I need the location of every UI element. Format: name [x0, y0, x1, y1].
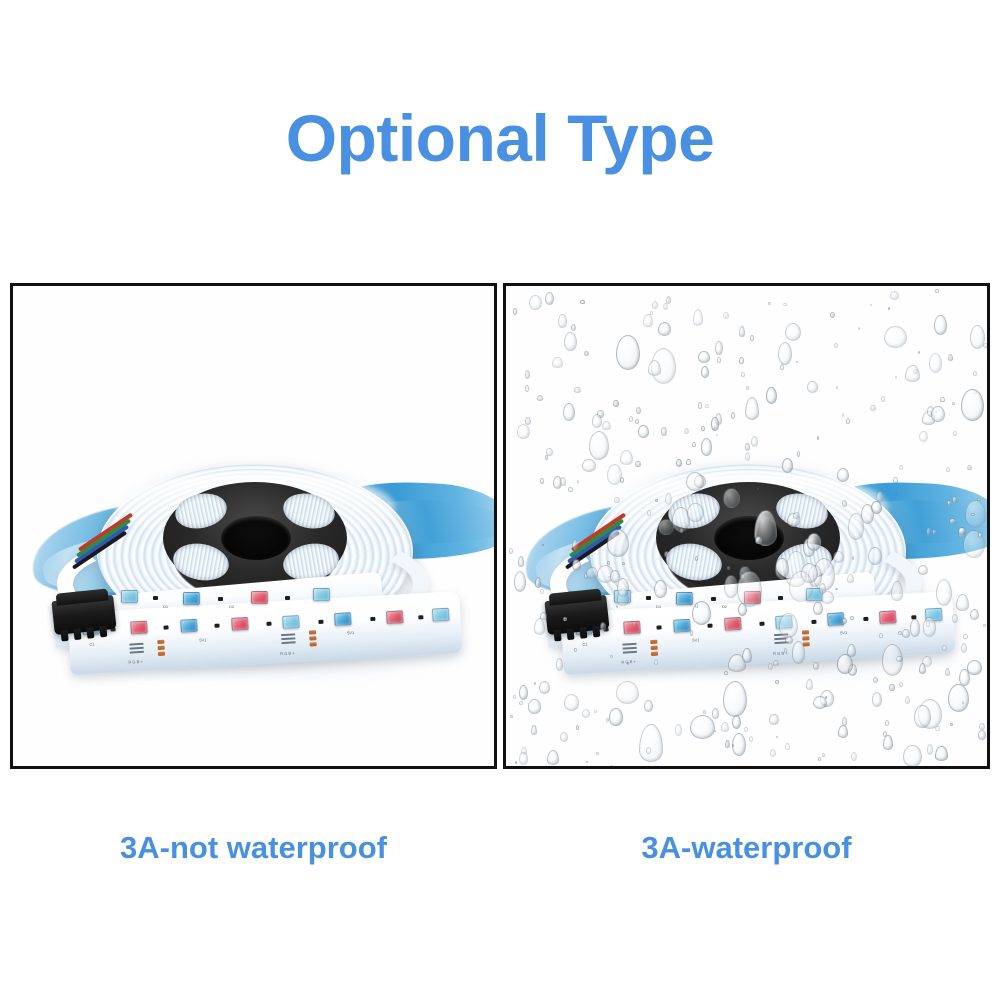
- caption-not-waterproof: 3A-not waterproof: [10, 830, 497, 866]
- four-pin-connector: [51, 595, 116, 635]
- caption-waterproof: 3A-waterproof: [503, 830, 990, 866]
- page-title: Optional Type: [0, 104, 1000, 173]
- led-strip-reel-photo: C1 5V1 5V1 R G B + R G B + D1 D2: [13, 286, 494, 766]
- four-pin-connector: [544, 595, 609, 635]
- panel-photo-not-waterproof: C1 5V1 5V1 R G B + R G B + D1 D2: [13, 286, 494, 766]
- panel-photo-waterproof: C1 5V1 5V1 R G B + R G B + D1 D2: [506, 286, 987, 766]
- product-image-panel-not-waterproof[interactable]: C1 5V1 5V1 R G B + R G B + D1 D2: [10, 283, 497, 769]
- product-image-panel-waterproof[interactable]: C1 5V1 5V1 R G B + R G B + D1 D2: [503, 283, 990, 769]
- connector-wire-harness: [528, 542, 638, 638]
- led-strip-reel-photo: C1 5V1 5V1 R G B + R G B + D1 D2: [506, 286, 987, 766]
- connector-wire-harness: [35, 542, 145, 638]
- product-comparison-graphic: Optional Type: [0, 0, 1000, 1000]
